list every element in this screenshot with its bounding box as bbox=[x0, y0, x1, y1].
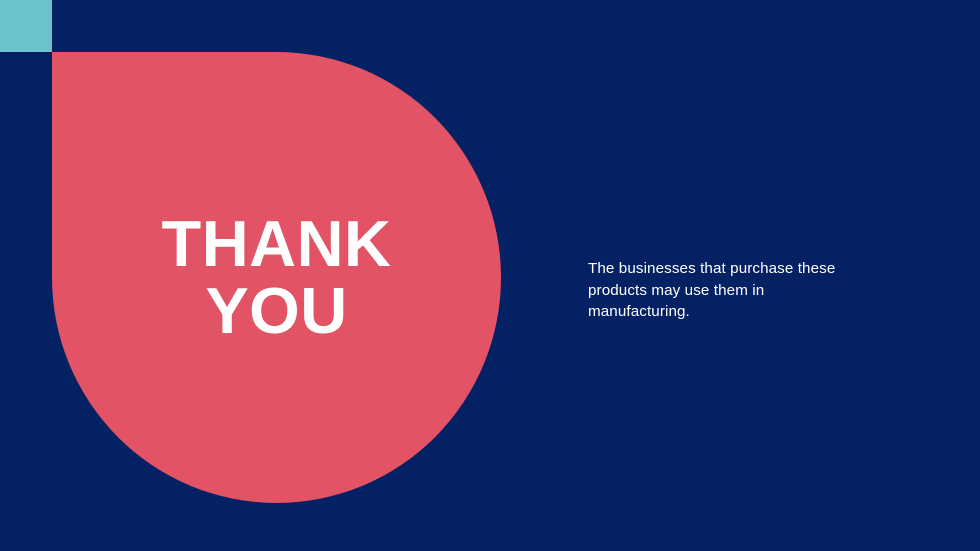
teal-accent-square bbox=[0, 0, 52, 52]
page-title: THANK YOU bbox=[52, 52, 501, 503]
page-title-line-1: THANK bbox=[162, 211, 392, 278]
body-paragraph: The businesses that purchase these produ… bbox=[588, 258, 856, 323]
thank-you-slide: THANK YOU The businesses that purchase t… bbox=[0, 0, 980, 551]
page-title-line-2: YOU bbox=[205, 278, 347, 345]
